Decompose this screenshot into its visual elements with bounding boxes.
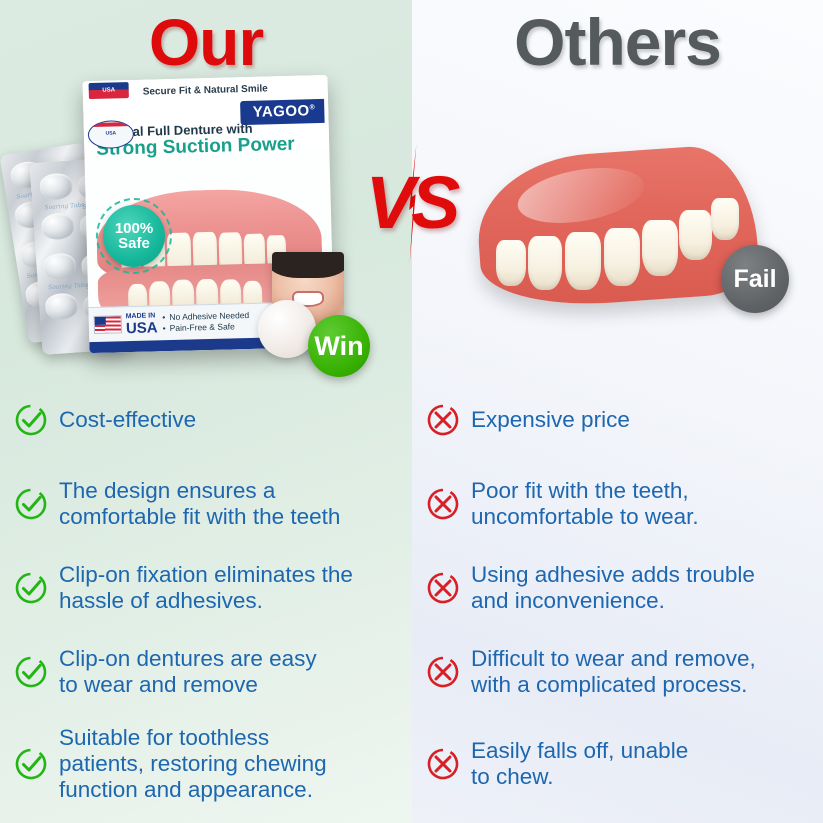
- brand-name: YAGOO: [252, 102, 309, 120]
- list-item-line: Poor fit with the teeth,: [471, 478, 689, 503]
- list-item-text: Suitable for toothless patients, restori…: [59, 725, 327, 803]
- list-item-text: Difficult to wear and remove, with a com…: [471, 646, 756, 698]
- list-item: Expensive price: [412, 378, 823, 462]
- list-item-line: Easily falls off, unable: [471, 738, 688, 763]
- list-item: Clip-on dentures are easy to wear and re…: [0, 630, 412, 714]
- safety-seal-ring: [96, 198, 172, 274]
- list-item-line: with a complicated process.: [471, 672, 747, 697]
- list-item: Difficult to wear and remove, with a com…: [412, 630, 823, 714]
- competitor-denture: [478, 152, 756, 302]
- check-circle-icon: [14, 487, 48, 521]
- safety-seal: 100% Safe: [103, 205, 165, 267]
- list-item-line: to chew.: [471, 764, 554, 789]
- brand-tab: YAGOO®: [240, 99, 324, 125]
- brand-trademark: ®: [309, 104, 315, 111]
- box-bullet: Pain-Free & Safe: [170, 321, 250, 334]
- list-item-text: Cost-effective: [59, 407, 196, 433]
- us-flag-icon: [94, 315, 122, 334]
- fail-badge-label: Fail: [733, 265, 776, 294]
- list-item-line: Expensive price: [471, 407, 630, 432]
- check-circle-icon: [14, 655, 48, 689]
- list-item: The design ensures a comfortable fit wit…: [0, 462, 412, 546]
- list-item: Cost-effective: [0, 378, 412, 462]
- list-item-line: comfortable fit with the teeth: [59, 504, 340, 529]
- left-feature-list: Cost-effective The design ensures a comf…: [0, 378, 412, 814]
- header-our: Our: [0, 4, 412, 80]
- list-item-line: The design ensures a: [59, 478, 275, 503]
- win-badge-label: Win: [314, 331, 363, 362]
- list-item-line: to wear and remove: [59, 672, 258, 697]
- list-item-text: Using adhesive adds trouble and inconven…: [471, 562, 755, 614]
- list-item-line: Using adhesive adds trouble: [471, 562, 755, 587]
- list-item-text: The design ensures a comfortable fit wit…: [59, 478, 340, 530]
- list-item-line: Difficult to wear and remove,: [471, 646, 756, 671]
- list-item-text: Easily falls off, unable to chew.: [471, 738, 688, 790]
- list-item-line: Clip-on dentures are easy: [59, 646, 317, 671]
- list-item: Poor fit with the teeth, uncomfortable t…: [412, 462, 823, 546]
- header-others: Others: [412, 4, 823, 80]
- made-in-country: USA: [126, 320, 158, 336]
- x-circle-icon: [426, 403, 460, 437]
- win-badge: Win: [308, 315, 370, 377]
- usa-flag-badge: USA: [89, 82, 129, 99]
- right-feature-list: Expensive price Poor fit with the teeth,…: [412, 378, 823, 814]
- check-circle-icon: [14, 571, 48, 605]
- box-bullet-list: No Adhesive Needed Pain-Free & Safe: [157, 310, 249, 334]
- woman-hair: [272, 252, 344, 278]
- list-item-line: hassle of adhesives.: [59, 588, 263, 613]
- usa-oval-seal-text: USA: [106, 130, 117, 136]
- check-circle-icon: [14, 403, 48, 437]
- list-item-line: uncomfortable to wear.: [471, 504, 699, 529]
- list-item-line: Suitable for toothless: [59, 725, 269, 750]
- versus-graphic: VS: [352, 148, 470, 258]
- list-item-text: Clip-on fixation eliminates the hassle o…: [59, 562, 353, 614]
- list-item-text: Poor fit with the teeth, uncomfortable t…: [471, 478, 699, 530]
- check-circle-icon: [14, 747, 48, 781]
- list-item-line: function and appearance.: [59, 777, 313, 802]
- list-item-text: Expensive price: [471, 407, 630, 433]
- list-item-line: patients, restoring chewing: [59, 751, 327, 776]
- list-item-line: Clip-on fixation eliminates the: [59, 562, 353, 587]
- x-circle-icon: [426, 655, 460, 689]
- list-item: Using adhesive adds trouble and inconven…: [412, 546, 823, 630]
- list-item: Clip-on fixation eliminates the hassle o…: [0, 546, 412, 630]
- list-item-line: Cost-effective: [59, 407, 196, 432]
- list-item-line: and inconvenience.: [471, 588, 665, 613]
- x-circle-icon: [426, 747, 460, 781]
- x-circle-icon: [426, 571, 460, 605]
- fail-badge: Fail: [721, 245, 789, 313]
- list-item: Easily falls off, unable to chew.: [412, 714, 823, 814]
- x-circle-icon: [426, 487, 460, 521]
- comparison-infographic: Our Others Soaring Tabs Soaring Tabs Soa…: [0, 0, 823, 823]
- versus-label: VS: [352, 148, 470, 258]
- list-item: Suitable for toothless patients, restori…: [0, 714, 412, 814]
- list-item-text: Clip-on dentures are easy to wear and re…: [59, 646, 317, 698]
